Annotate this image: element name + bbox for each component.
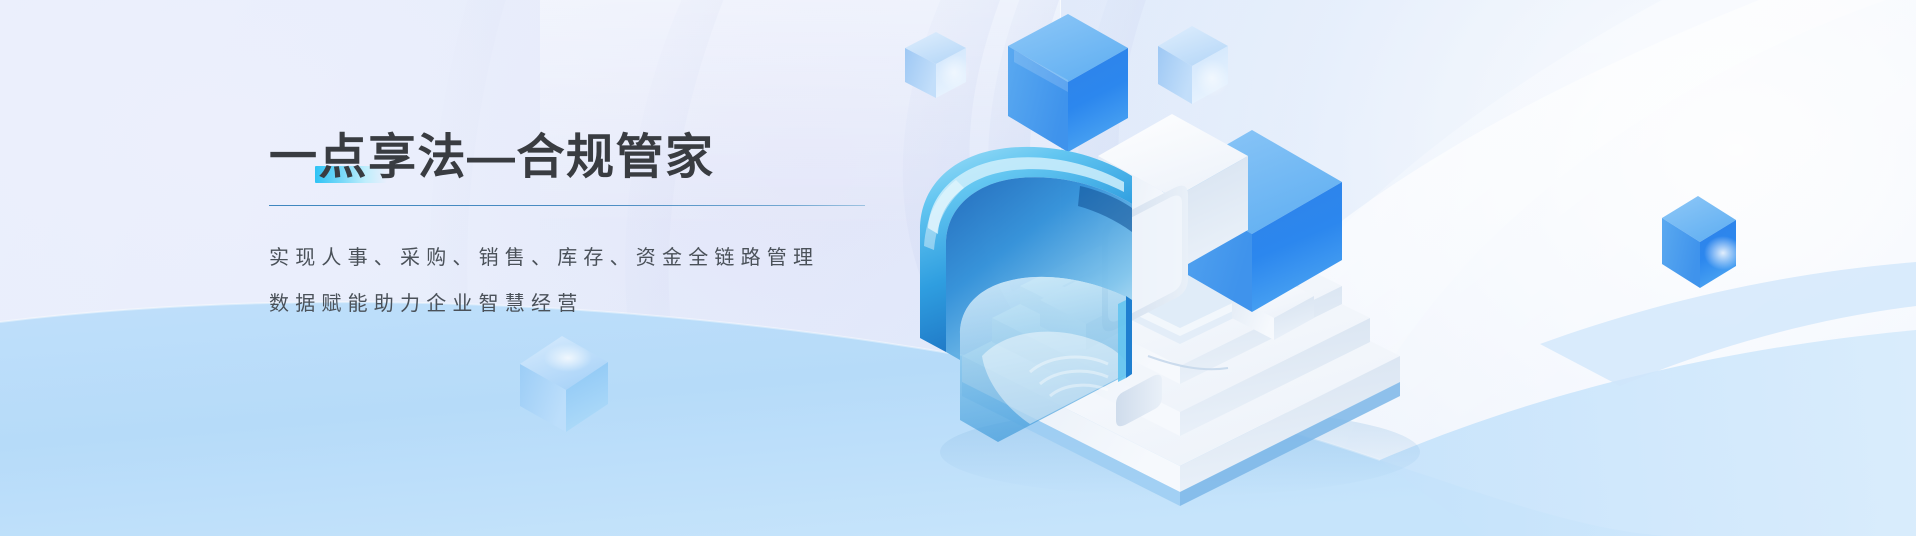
background-wash-right <box>1076 0 1916 536</box>
platform-inset-tray <box>1062 228 1300 344</box>
floating-cube-pale-top-right <box>1158 26 1229 104</box>
blue-cube <box>1162 130 1342 312</box>
subtitle-group: 实现人事、采购、销售、库存、资金全链路管理 数据赋能助力企业智慧经营 <box>269 235 889 327</box>
platform-nub <box>1116 375 1162 426</box>
floating-cube-pale-left <box>905 32 970 98</box>
subtitle-line-1: 实现人事、采购、销售、库存、资金全链路管理 <box>269 235 889 281</box>
layered-platform-base <box>962 246 1400 506</box>
subtitle-line-2: 数据赋能助力企业智慧经营 <box>269 281 889 327</box>
platform-block-left <box>1040 276 1132 350</box>
platform-slab-top <box>1020 206 1342 384</box>
title-divider <box>269 205 865 206</box>
title-wrapper: 一点享法—合规管家 <box>269 128 715 188</box>
rounded-white-card <box>1102 186 1188 332</box>
hero-3d-illustration <box>880 0 1916 536</box>
hero-text-block: 一点享法—合规管家 实现人事、采购、销售、库存、资金全链路管理 数据赋能助力企业… <box>269 128 889 327</box>
page-title: 一点享法—合规管家 <box>269 128 715 188</box>
white-cube <box>1098 114 1248 272</box>
platform-block-right <box>1232 274 1314 340</box>
hero-banner: 一点享法—合规管家 实现人事、采购、销售、库存、资金全链路管理 数据赋能助力企业… <box>0 0 1916 536</box>
platform-slab-mid <box>992 224 1370 436</box>
floating-cube-blue-right <box>1662 196 1742 288</box>
glass-curved-panel <box>920 147 1132 442</box>
floating-cube-blue-large <box>1008 14 1128 152</box>
floating-cube-blue-bottom-left <box>506 320 626 440</box>
